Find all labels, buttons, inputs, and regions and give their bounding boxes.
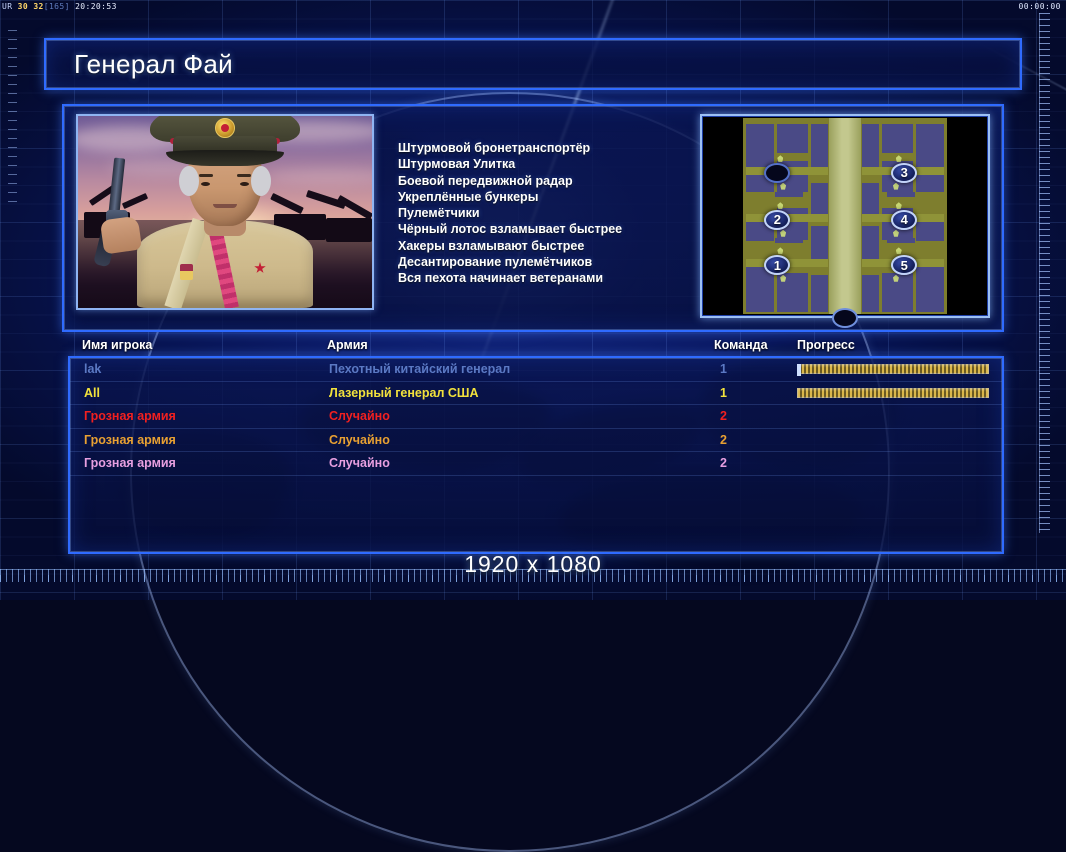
resolution-label: 1920 x 1080: [0, 551, 1066, 578]
general-info-panel: Штурмовой бронетранспортёр Штурмовая Ули…: [62, 104, 1004, 332]
ability-item: Десантирование пулемётчиков: [398, 254, 700, 270]
table-row[interactable]: lakПехотный китайский генерал1: [70, 358, 1002, 382]
player-army-cell[interactable]: Случайно: [329, 456, 390, 470]
player-rows-container: lakПехотный китайский генерал1AllЛазерны…: [70, 358, 1002, 476]
map-spawn-point-3[interactable]: 3: [891, 163, 917, 183]
top-hud-bar: UR 30 32[165] 20:20:53 00:00:00: [0, 0, 1066, 13]
table-row[interactable]: AllЛазерный генерал США1: [70, 382, 1002, 406]
progress-bar-leading-edge: [797, 364, 801, 376]
portrait-eye: [240, 182, 249, 186]
player-team-cell[interactable]: 2: [720, 409, 727, 423]
player-name-cell[interactable]: lak: [84, 362, 101, 376]
player-team-cell[interactable]: 2: [720, 433, 727, 447]
fps-prefix: UR: [2, 2, 12, 11]
map-central-river: [829, 118, 860, 314]
map-building: [811, 275, 828, 312]
column-header-name: Имя игрока: [82, 338, 152, 352]
map-spawn-point-1[interactable]: 1: [764, 255, 790, 275]
portrait-medal: [180, 264, 193, 280]
map-building: [777, 124, 808, 153]
player-name-cell[interactable]: Грозная армия: [84, 433, 176, 447]
map-wall: [887, 192, 915, 198]
table-row[interactable]: Грозная армияСлучайно2: [70, 452, 1002, 476]
fps-value: 30: [18, 2, 28, 11]
map-building: [862, 183, 879, 216]
player-progress-cell: [797, 364, 989, 374]
map-building: [746, 124, 774, 167]
page-title: Генерал Фай: [74, 49, 233, 80]
map-building: [811, 183, 828, 216]
portrait-cap-emblem: [215, 118, 235, 138]
column-header-team: Команда: [714, 338, 768, 352]
map-wall: [775, 192, 803, 198]
portrait-eyebrow: [237, 174, 251, 177]
ability-item: Штурмовая Улитка: [398, 156, 700, 172]
map-building: [916, 124, 944, 167]
general-abilities-list: Штурмовой бронетранспортёр Штурмовая Ули…: [398, 140, 700, 287]
general-portrait: [76, 114, 374, 310]
player-army-cell[interactable]: Пехотный китайский генерал: [329, 362, 510, 376]
column-header-progress: Прогресс: [797, 338, 855, 352]
portrait-mouth: [213, 204, 237, 208]
map-spawn-point-6[interactable]: [764, 163, 790, 183]
map-wall: [775, 238, 803, 244]
table-row[interactable]: Грозная армияСлучайно2: [70, 405, 1002, 429]
map-building: [882, 124, 913, 153]
map-building: [916, 222, 944, 242]
player-team-cell[interactable]: 1: [720, 386, 727, 400]
player-team-cell[interactable]: 1: [720, 362, 727, 376]
map-spawn-point-2[interactable]: 2: [764, 210, 790, 230]
map-building: [862, 275, 879, 312]
player-name-cell[interactable]: All: [84, 386, 100, 400]
fps-bracket-value: [165]: [44, 2, 70, 11]
map-spawn-point-4[interactable]: 4: [891, 210, 917, 230]
general-title-panel: Генерал Фай: [44, 38, 1022, 90]
ability-item: Укреплённые бункеры: [398, 189, 700, 205]
map-wall: [887, 238, 915, 244]
map-building: [916, 175, 944, 193]
ruler-left-decoration: [8, 30, 17, 210]
player-army-cell[interactable]: Случайно: [329, 409, 390, 423]
map-spawn-point-5[interactable]: 5: [891, 255, 917, 275]
ability-item: Хакеры взламывают быстрее: [398, 238, 700, 254]
fps-value-secondary: 32: [33, 2, 43, 11]
portrait-hair: [251, 166, 271, 196]
session-time: 20:20:53: [75, 2, 117, 11]
ability-item: Боевой передвижной радар: [398, 173, 700, 189]
map-bottom-marker: [832, 308, 858, 328]
progress-bar: [797, 388, 989, 398]
portrait-eye: [201, 182, 210, 186]
portrait-tank-silhouette: [326, 218, 372, 242]
map-preview[interactable]: 3 2 4 1 5: [700, 114, 990, 318]
table-row[interactable]: Грозная армияСлучайно2: [70, 429, 1002, 453]
player-army-cell[interactable]: Случайно: [329, 433, 390, 447]
player-progress-cell: [797, 388, 989, 398]
ability-item: Вся пехота начинает ветеранами: [398, 270, 700, 286]
ability-item: Пулемётчики: [398, 205, 700, 221]
ruler-right-decoration: [1039, 13, 1050, 533]
player-team-cell[interactable]: 2: [720, 456, 727, 470]
portrait-hair: [179, 166, 199, 196]
progress-bar: [797, 364, 989, 374]
player-name-cell[interactable]: Грозная армия: [84, 409, 176, 423]
player-name-cell[interactable]: Грозная армия: [84, 456, 176, 470]
map-canvas[interactable]: 3 2 4 1 5: [704, 118, 986, 314]
player-table-header: Имя игрока Армия Команда Прогресс: [62, 338, 1004, 356]
ability-item: Чёрный лотос взламывает быстрее: [398, 221, 700, 237]
game-clock: 00:00:00: [1018, 0, 1061, 13]
ability-item: Штурмовой бронетранспортёр: [398, 140, 700, 156]
player-army-cell[interactable]: Лазерный генерал США: [329, 386, 478, 400]
portrait-hand: [100, 216, 142, 255]
map-building: [916, 265, 944, 312]
fps-counter: UR 30 32[165] 20:20:53: [2, 0, 117, 13]
portrait-eyebrow: [199, 174, 213, 177]
player-list-panel: lakПехотный китайский генерал1AllЛазерны…: [68, 356, 1004, 554]
column-header-army: Армия: [327, 338, 368, 352]
